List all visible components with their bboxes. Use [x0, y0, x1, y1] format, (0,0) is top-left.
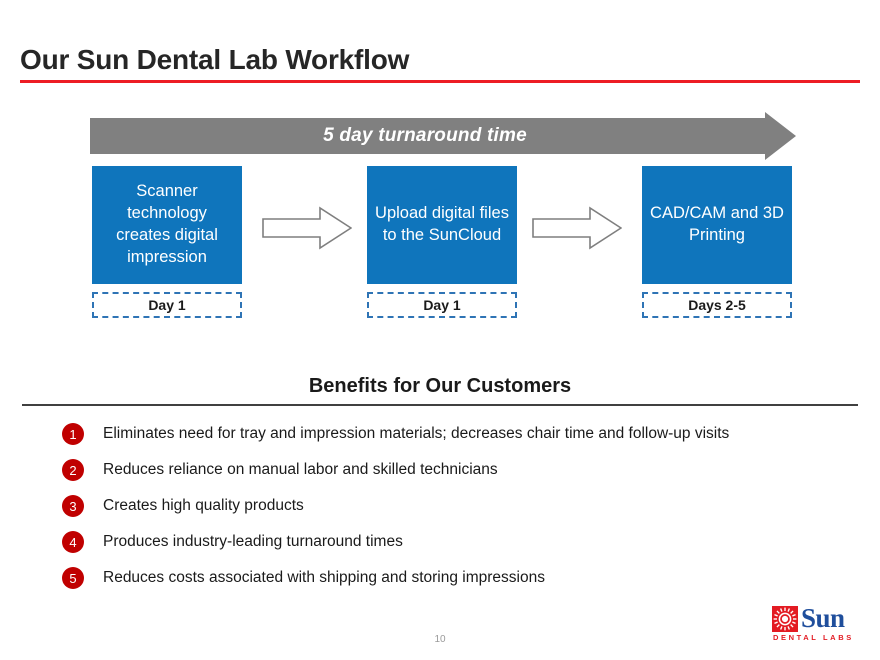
benefit-number-badge: 5 — [62, 567, 84, 589]
benefit-number-badge: 3 — [62, 495, 84, 517]
right-arrow-connector-icon — [532, 206, 622, 250]
sun-burst-icon — [772, 606, 798, 632]
benefits-divider-rule — [22, 404, 858, 406]
benefit-number-badge: 2 — [62, 459, 84, 481]
benefit-text: Creates high quality products — [103, 497, 304, 515]
benefits-heading: Benefits for Our Customers — [0, 375, 880, 398]
workflow-step-day-label: Days 2-5 — [688, 297, 746, 313]
workflow-step-label: Scanner technology creates digital impre… — [100, 181, 234, 268]
turnaround-banner-label: 5 day turnaround time — [90, 112, 760, 160]
workflow-step: Scanner technology creates digital impre… — [92, 166, 242, 318]
workflow-step-day-box: Day 1 — [367, 292, 517, 318]
workflow-step: Upload digital files to the SunCloud Day… — [367, 166, 517, 318]
title-underline-rule — [20, 80, 860, 83]
list-item: 1 Eliminates need for tray and impressio… — [62, 416, 862, 452]
workflow-step-day-label: Day 1 — [148, 297, 185, 313]
workflow-step: CAD/CAM and 3D Printing Days 2-5 — [642, 166, 792, 318]
benefit-text: Reduces costs associated with shipping a… — [103, 569, 545, 587]
workflow-step-day-label: Day 1 — [423, 297, 460, 313]
workflow-step-label: Upload digital files to the SunCloud — [375, 203, 509, 247]
benefit-text: Reduces reliance on manual labor and ski… — [103, 461, 498, 479]
logo-wordmark: Sun — [801, 603, 845, 634]
benefit-number-badge: 4 — [62, 531, 84, 553]
right-arrow-connector-icon — [262, 206, 352, 250]
list-item: 5 Reduces costs associated with shipping… — [62, 560, 862, 596]
workflow-step-day-box: Days 2-5 — [642, 292, 792, 318]
workflow-step-label: CAD/CAM and 3D Printing — [650, 203, 784, 247]
workflow-step-box: Upload digital files to the SunCloud — [367, 166, 517, 284]
list-item: 2 Reduces reliance on manual labor and s… — [62, 452, 862, 488]
workflow-step-box: CAD/CAM and 3D Printing — [642, 166, 792, 284]
benefit-text: Eliminates need for tray and impression … — [103, 425, 729, 443]
list-item: 4 Produces industry-leading turnaround t… — [62, 524, 862, 560]
workflow-step-day-box: Day 1 — [92, 292, 242, 318]
benefit-number-badge: 1 — [62, 423, 84, 445]
list-item: 3 Creates high quality products — [62, 488, 862, 524]
page-number: 10 — [0, 634, 880, 645]
page-title: Our Sun Dental Lab Workflow — [20, 44, 409, 76]
benefit-text: Produces industry-leading turnaround tim… — [103, 533, 403, 551]
benefits-list: 1 Eliminates need for tray and impressio… — [62, 416, 862, 596]
workflow-step-box: Scanner technology creates digital impre… — [92, 166, 242, 284]
